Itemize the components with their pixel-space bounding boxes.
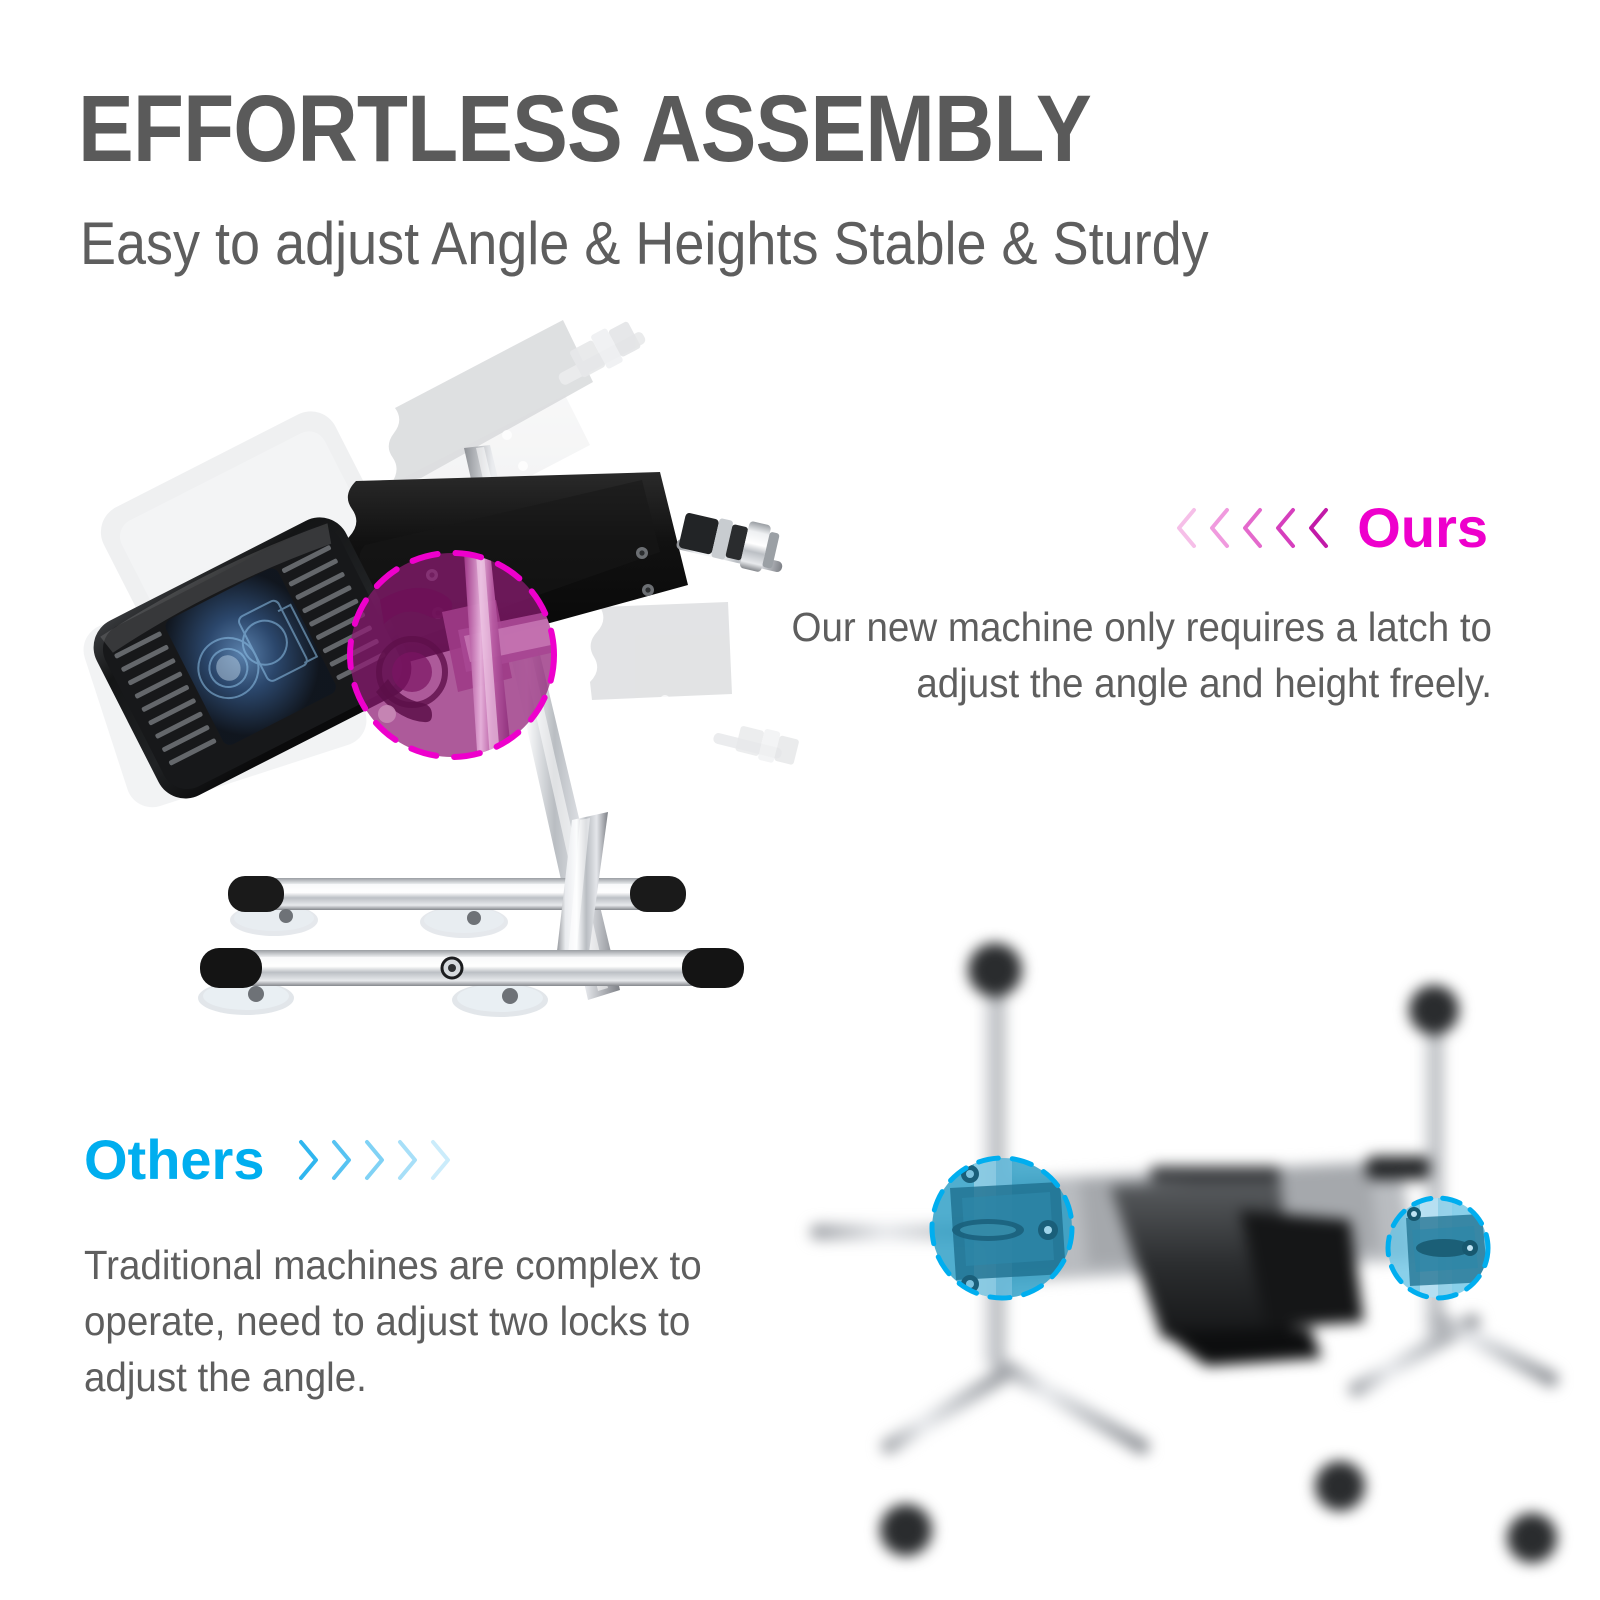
chevron-left-icon: [1239, 507, 1265, 549]
ours-callout: Ours: [1173, 500, 1488, 556]
base-tube-back: [228, 876, 686, 938]
page-title: EFFORTLESS ASSEMBLY: [78, 82, 1091, 177]
chevron-right-icon: [427, 1139, 453, 1181]
chevron-left-icon: [1305, 507, 1331, 549]
ours-description: Our new machine only requires a latch to…: [768, 600, 1492, 712]
chevron-right-icon: [394, 1139, 420, 1181]
others-callout: Others: [84, 1132, 453, 1188]
product-image-ours: [60, 300, 800, 1040]
chevron-right-icon: [328, 1139, 354, 1181]
blue-highlight-layer: [810, 930, 1570, 1570]
page-subtitle: Easy to adjust Angle & Heights Stable & …: [80, 212, 1209, 275]
product-image-others: [810, 930, 1570, 1570]
chevron-right-icon: [361, 1139, 387, 1181]
connector-rod: [676, 506, 784, 574]
blue-highlight-circle: [932, 1150, 1072, 1310]
chevron-left-icon: [1173, 507, 1199, 549]
chevron-right-group: [295, 1139, 453, 1181]
others-description: Traditional machines are complex to oper…: [84, 1238, 798, 1405]
chevron-left-group: [1173, 507, 1331, 549]
blue-highlight-circle: [1388, 1192, 1488, 1310]
ours-label: Ours: [1357, 500, 1488, 556]
chevron-right-icon: [295, 1139, 321, 1181]
base-tube-front: [198, 948, 744, 1017]
chevron-left-icon: [1272, 507, 1298, 549]
others-label: Others: [84, 1132, 265, 1188]
chevron-left-icon: [1206, 507, 1232, 549]
